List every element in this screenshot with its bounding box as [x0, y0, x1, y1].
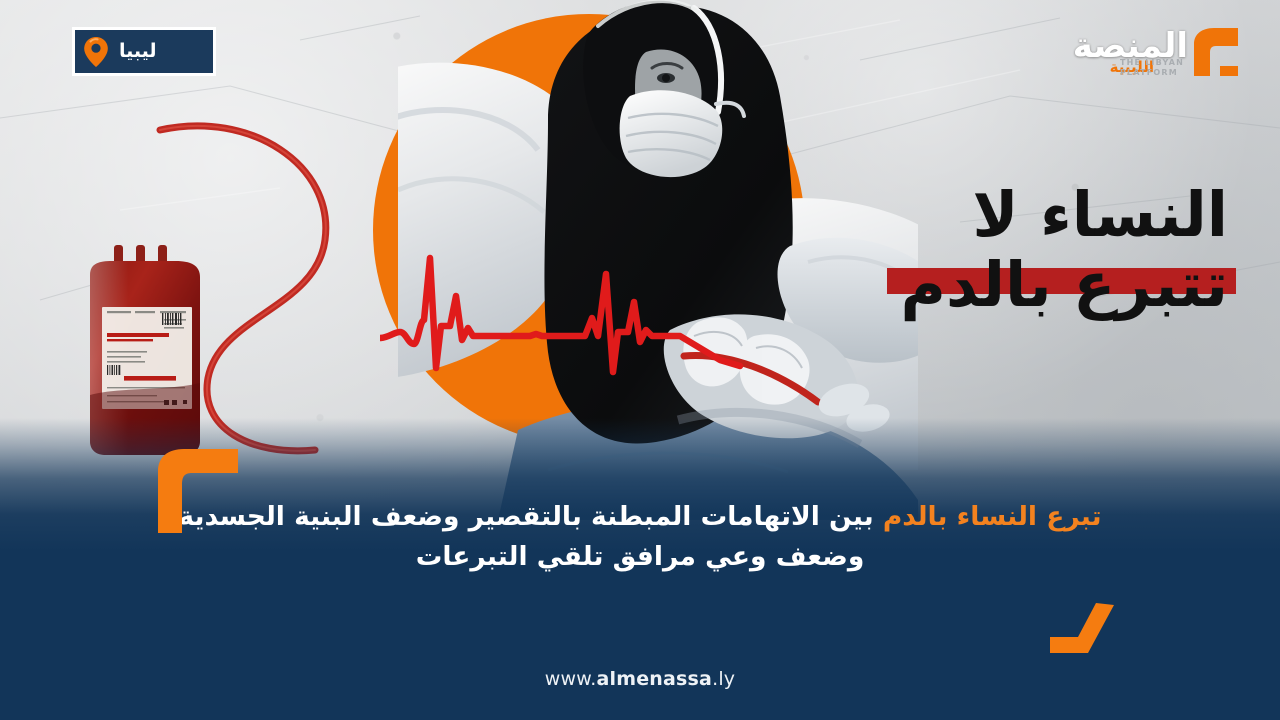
location-badge-label: ليبيا — [119, 42, 157, 61]
logo-english-name: THE LIBYAN PLATFORM — [1120, 58, 1184, 78]
logo-english-line2: PLATFORM — [1120, 68, 1184, 78]
website-url[interactable]: www.almenassa.ly — [0, 668, 1280, 690]
orange-bracket-left-icon — [152, 447, 244, 533]
poster-canvas: ليبيا المنصة الليبية THE LIBYAN PLATFORM… — [0, 0, 1280, 720]
headline-line-1: النساء لا — [901, 182, 1229, 248]
map-pin-icon — [83, 36, 109, 68]
url-prefix: www. — [545, 668, 597, 690]
ecg-heartbeat-line-icon — [380, 240, 780, 380]
headline-line-2-wrap: تتبرع بالدم — [901, 252, 1229, 318]
subtitle-text: تبرع النساء بالدم بين الاتهامات المبطنة … — [178, 501, 1101, 572]
headline: النساء لا تتبرع بالدم — [901, 182, 1229, 317]
site-logo[interactable]: المنصة الليبية THE LIBYAN PLATFORM — [1042, 14, 1252, 90]
subtitle-highlight: تبرع النساء بالدم — [883, 501, 1102, 532]
url-suffix: .ly — [712, 668, 735, 690]
subtitle-rest: بين الاتهامات المبطنة بالتقصير وضعف البن… — [178, 501, 882, 572]
url-main: almenassa — [596, 668, 712, 690]
location-badge: ليبيا — [72, 27, 216, 76]
almenassa-logo-mark-icon — [1186, 22, 1248, 84]
orange-bracket-right-icon — [1048, 603, 1118, 655]
headline-line-2: تتبرع بالدم — [901, 252, 1229, 318]
logo-english-line1: THE LIBYAN — [1120, 58, 1184, 68]
